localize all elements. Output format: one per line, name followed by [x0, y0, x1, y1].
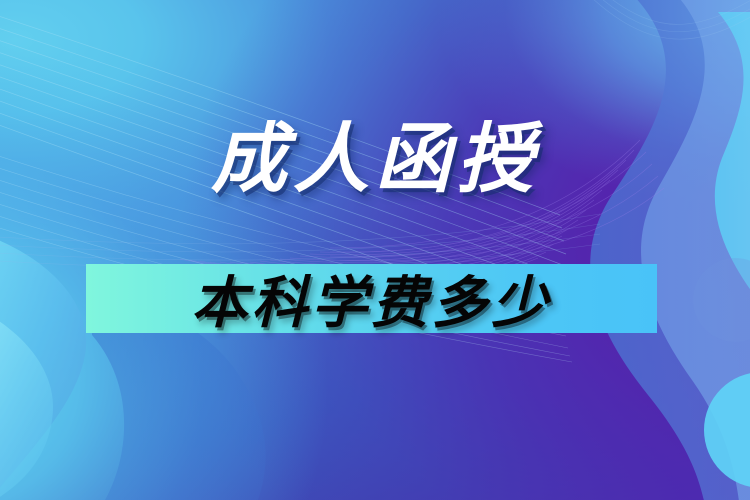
background-swirl-lines — [0, 0, 750, 500]
subtitle-text: 本科学费多少 — [86, 264, 657, 333]
page-title: 成人函授 — [0, 118, 750, 202]
swirl-bundle-top-right — [592, 0, 750, 39]
education-promo-banner: 成人函授 本科学费多少 — [0, 0, 750, 500]
